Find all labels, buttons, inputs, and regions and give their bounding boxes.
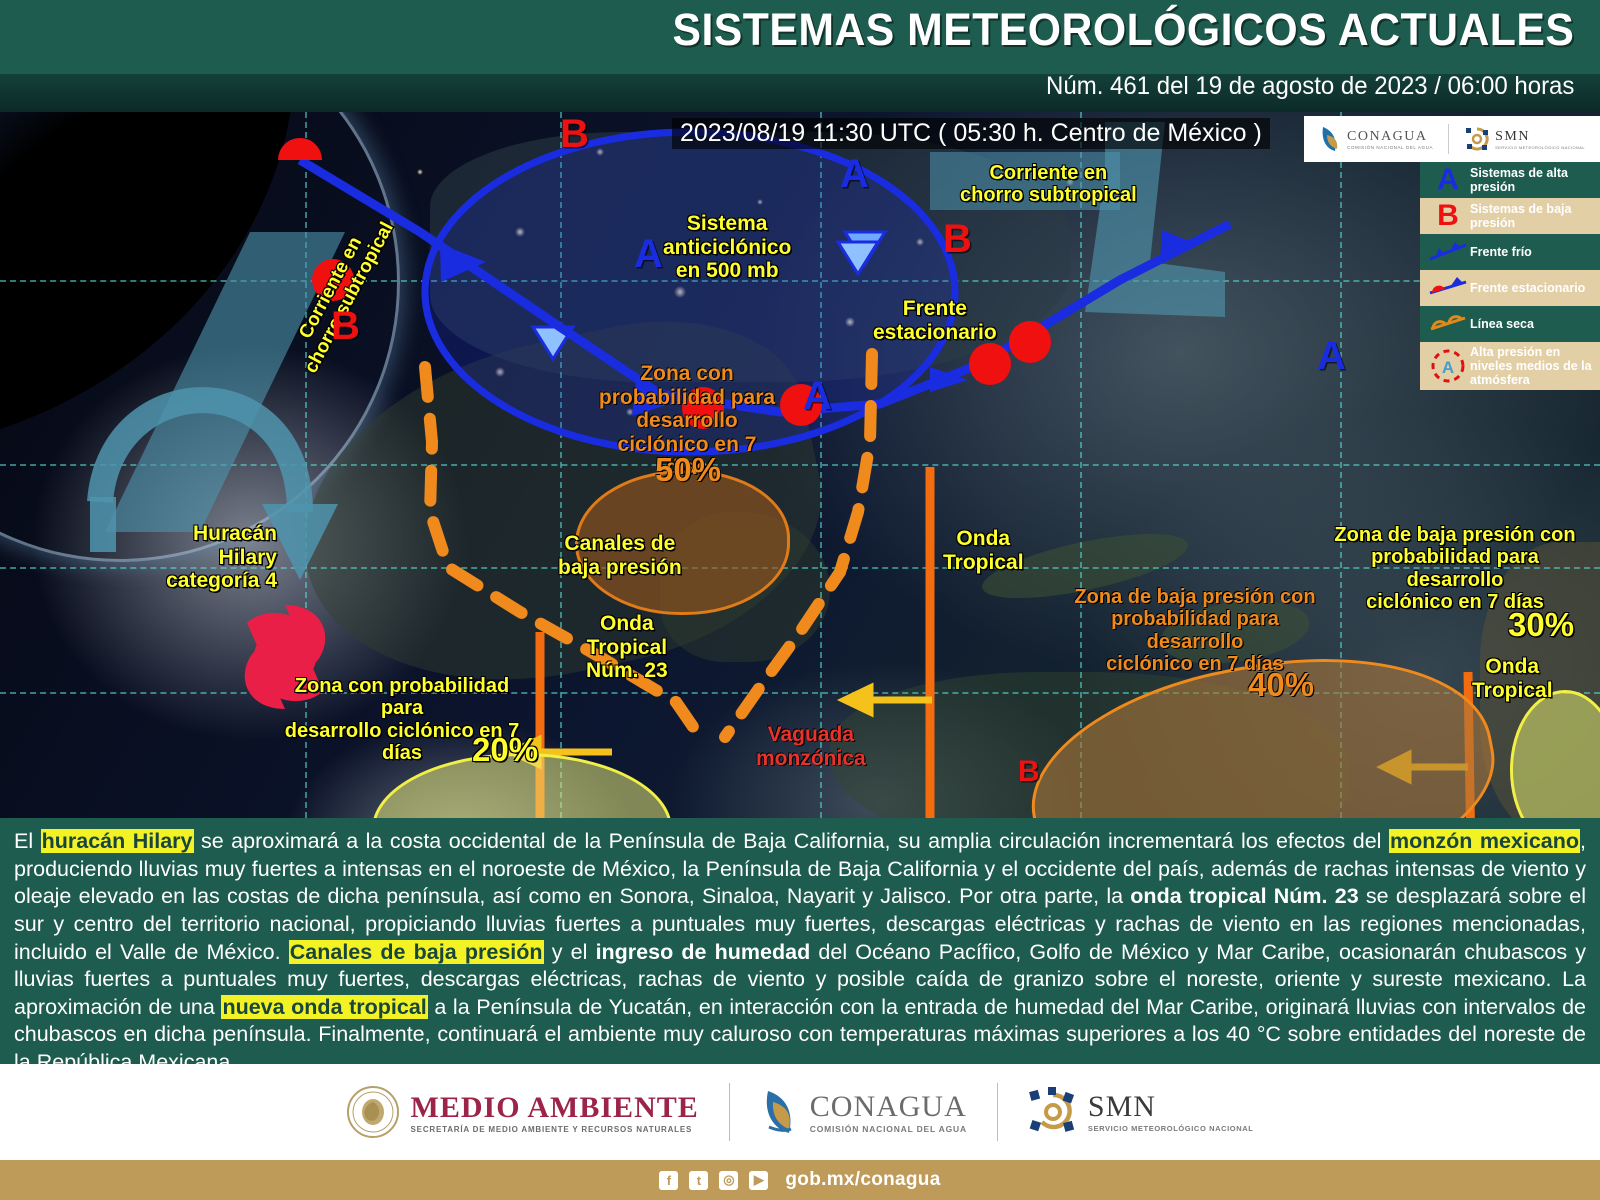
summary-bold: ingreso de humedad — [596, 940, 811, 964]
forecast-summary-text: El huracán Hilary se aproximará a la cos… — [0, 818, 1600, 1064]
instagram-icon[interactable]: ◎ — [719, 1171, 738, 1190]
conagua-logo: CONAGUA COMISIÓN NACIONAL DEL AGUA — [1319, 125, 1433, 153]
legend-item-label: Sistemas de baja presión — [1470, 202, 1596, 230]
page-header: SISTEMAS METEOROLÓGICOS ACTUALES Núm. 46… — [0, 0, 1600, 112]
summary-highlight: nueva onda tropical — [221, 995, 427, 1019]
twitter-icon[interactable]: t — [689, 1171, 708, 1190]
stationary-front-icon — [1426, 277, 1470, 299]
letter-b-red-icon: B — [1426, 201, 1470, 231]
symbol-high-pressure-a: A — [634, 232, 663, 277]
summary-highlight: huracán Hilary — [41, 829, 194, 853]
footer-conagua-text: CONAGUA — [810, 1090, 967, 1124]
legend-item-high-pressure: A Sistemas de alta presión — [1420, 162, 1600, 198]
label-hurricane-hilary: Huracán Hilary categoría 4 — [152, 522, 277, 593]
legend-item-label: Frente estacionario — [1470, 281, 1585, 295]
conagua-mark-icon — [1319, 125, 1341, 153]
letter-a-blue-icon: A — [1426, 165, 1470, 195]
symbol-low-pressure-b: B — [560, 112, 589, 157]
cold-front-icon — [1426, 241, 1470, 263]
footer-smn-subtext: SERVICIO METEOROLÓGICO NACIONAL — [1088, 1124, 1254, 1133]
label-tropical-wave-center: Onda Tropical — [943, 527, 1024, 574]
logo-divider — [1448, 124, 1449, 154]
legend-item-dry-line: Línea seca — [1420, 306, 1600, 342]
legend-item-label: Sistemas de alta presión — [1470, 166, 1596, 194]
label-low-pressure-channels: Canales de baja presión — [558, 532, 682, 579]
legend-item-label: Alta presión en niveles medios de la atm… — [1470, 345, 1596, 387]
smn-mark-icon — [1028, 1087, 1078, 1137]
map-legend: A Sistemas de alta presión B Sistemas de… — [1420, 162, 1600, 390]
legend-item-cold-front: Frente frío — [1420, 234, 1600, 270]
weather-bulletin-page: SISTEMAS METEOROLÓGICOS ACTUALES Núm. 46… — [0, 0, 1600, 1200]
value-zone-30-percent: 30% — [1508, 607, 1574, 644]
legend-item-stationary-front: Frente estacionario — [1420, 270, 1600, 306]
medio-ambiente-text: MEDIO AMBIENTE — [411, 1091, 699, 1125]
dry-line-icon — [1426, 313, 1470, 335]
mexico-coat-of-arms-icon — [347, 1084, 399, 1140]
summary-highlight: Canales de baja presión — [289, 940, 544, 964]
symbol-high-pressure-a: A — [803, 374, 832, 419]
label-zone-40: Zona de baja presión con probabilidad pa… — [1070, 586, 1320, 676]
mid-level-high-icon: A — [1426, 347, 1470, 385]
summary-text: se aproximará a la costa occidental de l… — [194, 829, 1389, 853]
footer-smn-logo: SMN SERVICIO METEOROLÓGICO NACIONAL — [1028, 1087, 1254, 1137]
symbol-low-pressure-b: B — [1018, 755, 1040, 789]
footer-smn-text: SMN — [1088, 1090, 1254, 1124]
svg-text:A: A — [1442, 358, 1454, 377]
label-anticyclone-500mb: Sistema anticiclónico en 500 mb — [663, 212, 791, 283]
legend-item-label: Línea seca — [1470, 317, 1534, 331]
label-tropical-wave-23: Onda Tropical Núm. 23 — [586, 612, 668, 683]
conagua-logo-subtext: COMISIÓN NACIONAL DEL AGUA — [1347, 145, 1433, 150]
value-zone-50-percent: 50% — [655, 452, 721, 489]
conagua-logo-text: CONAGUA — [1347, 129, 1433, 145]
label-jet-stream-east: Corriente en chorro subtropical — [960, 162, 1137, 207]
bulletin-number-date: Núm. 461 del 19 de agosto de 2023 / 06:0… — [1046, 72, 1574, 101]
medio-ambiente-subtext: SECRETARÍA DE MEDIO AMBIENTE Y RECURSOS … — [411, 1125, 699, 1134]
label-stationary-front: Frente estacionario — [873, 297, 997, 344]
social-media-bar: f t ◎ ▶ gob.mx/conagua — [0, 1160, 1600, 1200]
summary-text: El — [14, 829, 41, 853]
page-footer: MEDIO AMBIENTE SECRETARÍA DE MEDIO AMBIE… — [0, 1064, 1600, 1160]
summary-text: y el — [544, 940, 596, 964]
conagua-mark-icon — [760, 1087, 800, 1137]
footer-conagua-logo: CONAGUA COMISIÓN NACIONAL DEL AGUA — [760, 1087, 967, 1137]
footer-divider — [729, 1083, 730, 1141]
legend-item-low-pressure: B Sistemas de baja presión — [1420, 198, 1600, 234]
smn-logo-text: SMN — [1495, 129, 1585, 145]
label-zone-30: Zona de baja presión con probabilidad pa… — [1320, 524, 1590, 614]
symbol-high-pressure-a: A — [840, 152, 869, 197]
legend-item-mid-level-high: A Alta presión en niveles medios de la a… — [1420, 342, 1600, 390]
smn-logo-subtext: SERVICIO METEOROLÓGICO NACIONAL — [1495, 145, 1585, 150]
footer-conagua-subtext: COMISIÓN NACIONAL DEL AGUA — [810, 1124, 967, 1134]
smn-logo: SMN SERVICIO METEOROLÓGICO NACIONAL — [1464, 126, 1585, 152]
value-zone-40-percent: 40% — [1248, 667, 1314, 704]
symbol-low-pressure-b: B — [943, 217, 972, 262]
map-timestamp: 2023/08/19 11:30 UTC ( 05:30 h. Centro d… — [672, 118, 1270, 149]
label-tropical-wave-east: Onda Tropical — [1472, 655, 1553, 702]
smn-mark-icon — [1464, 126, 1490, 152]
satellite-weather-map[interactable]: 2023/08/19 11:30 UTC ( 05:30 h. Centro d… — [0, 112, 1600, 818]
medio-ambiente-logo: MEDIO AMBIENTE SECRETARÍA DE MEDIO AMBIE… — [347, 1084, 699, 1140]
summary-highlight: monzón mexicano — [1389, 829, 1580, 853]
youtube-icon[interactable]: ▶ — [749, 1171, 768, 1190]
map-agency-logos: CONAGUA COMISIÓN NACIONAL DEL AGUA SMN S… — [1304, 116, 1600, 162]
summary-bold: onda tropical Núm. 23 — [1130, 884, 1358, 908]
value-zone-20-percent: 20% — [472, 732, 538, 769]
footer-divider — [997, 1083, 998, 1141]
social-url-text[interactable]: gob.mx/conagua — [785, 1169, 940, 1191]
label-monsoon-trough: Vaguada monzónica — [756, 723, 866, 770]
symbol-low-pressure-b: B — [331, 304, 360, 349]
facebook-icon[interactable]: f — [659, 1171, 678, 1190]
legend-item-label: Frente frío — [1470, 245, 1532, 259]
symbol-high-pressure-a: A — [1317, 334, 1346, 379]
page-title: SISTEMAS METEOROLÓGICOS ACTUALES — [672, 4, 1574, 56]
